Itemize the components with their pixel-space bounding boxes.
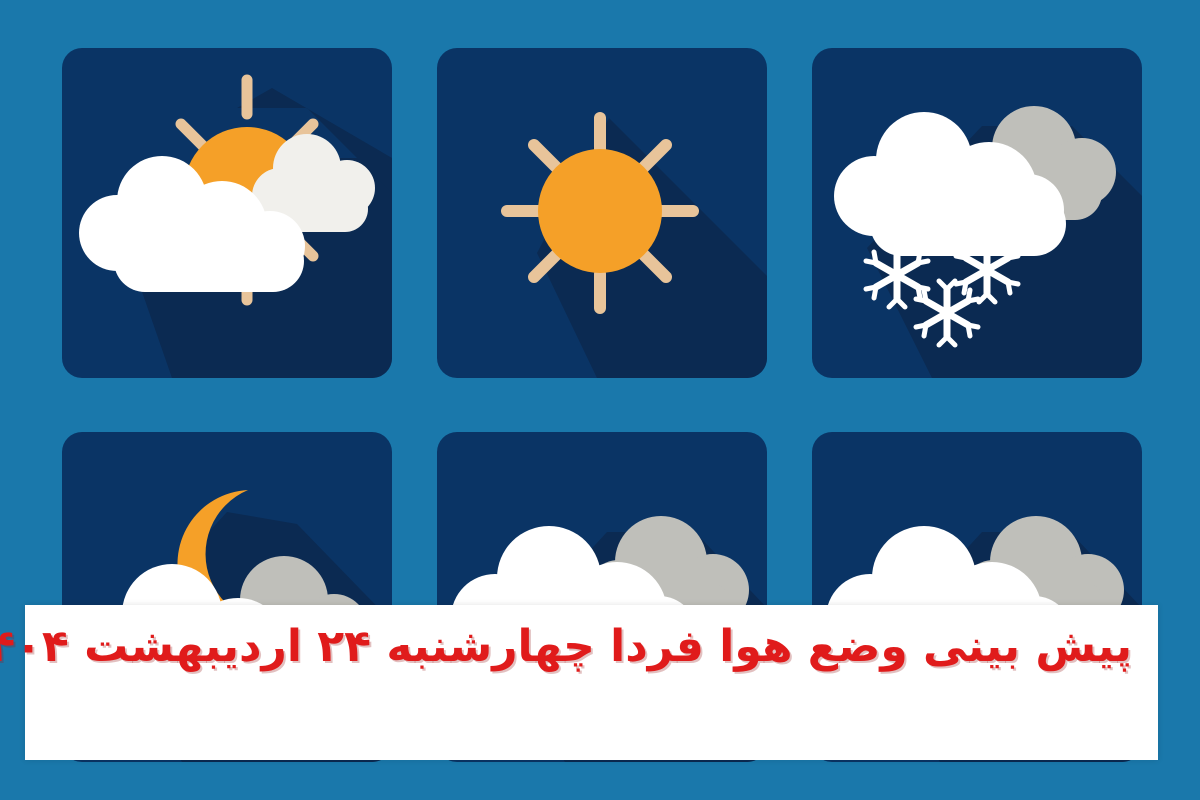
forecast-caption: پیش بینی وضع هوا فردا چهارشنبه ۲۴ اردیبه… — [51, 619, 1132, 674]
weather-tile-partly-cloudy-day[interactable] — [62, 48, 392, 378]
sunny-icon — [437, 48, 767, 378]
snowflake — [956, 238, 1018, 302]
weather-tile-sunny[interactable] — [437, 48, 767, 378]
weather-forecast-graphic: پیش بینی وضع هوا فردا چهارشنبه ۲۴ اردیبه… — [0, 0, 1200, 800]
snow-icon — [812, 48, 1142, 378]
snowflake — [916, 281, 978, 345]
partly-cloudy-day-icon — [62, 48, 392, 378]
weather-tile-snow[interactable] — [812, 48, 1142, 378]
sun-disc — [538, 149, 662, 273]
caption-banner: پیش بینی وضع هوا فردا چهارشنبه ۲۴ اردیبه… — [25, 605, 1158, 760]
